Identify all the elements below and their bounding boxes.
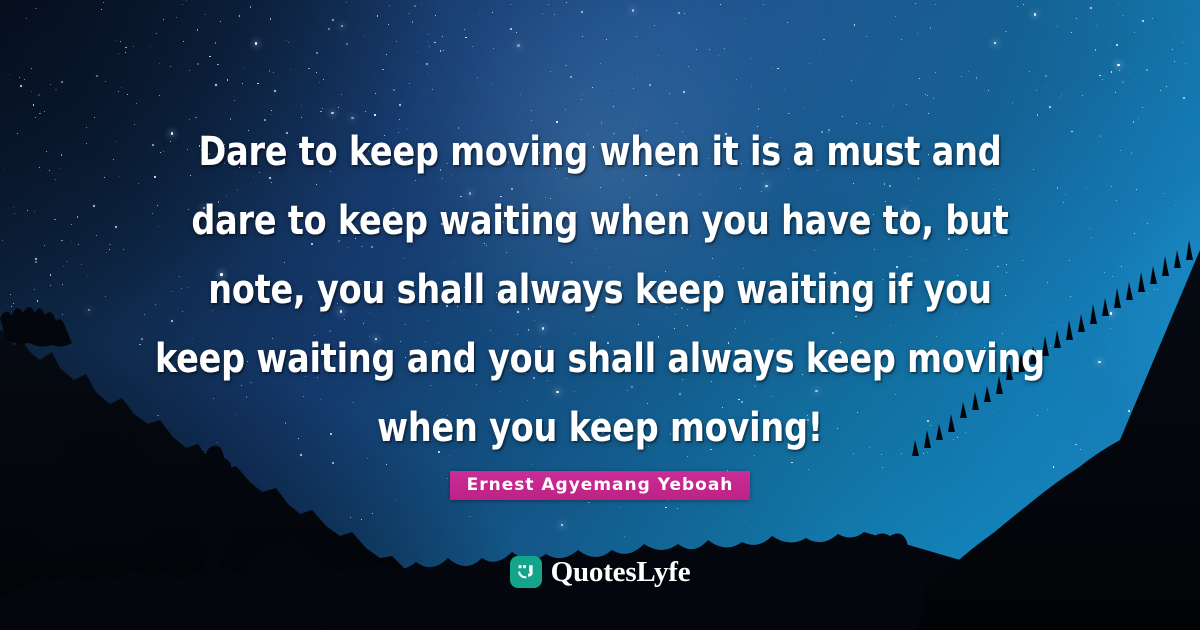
quote-line: note, you shall always keep waiting if y…: [154, 256, 1047, 325]
quote-text: Dare to keep moving when it is a must an…: [0, 118, 1200, 463]
quote-line: when you keep moving!: [154, 394, 1047, 463]
quote-card: Dare to keep moving when it is a must an…: [0, 0, 1200, 630]
quote-line: Dare to keep moving when it is a must an…: [154, 118, 1047, 187]
author-attribution: Ernest Agyemang Yeboah: [0, 471, 1200, 500]
quote-mark-icon: [510, 556, 542, 588]
brand-logo[interactable]: QuotesLyfe: [0, 556, 1200, 588]
quote-line: keep waiting and you shall always keep m…: [154, 325, 1047, 394]
quote-line: dare to keep waiting when you have to, b…: [154, 187, 1047, 256]
author-name-badge[interactable]: Ernest Agyemang Yeboah: [450, 471, 751, 500]
brand-name: QuotesLyfe: [551, 556, 691, 588]
